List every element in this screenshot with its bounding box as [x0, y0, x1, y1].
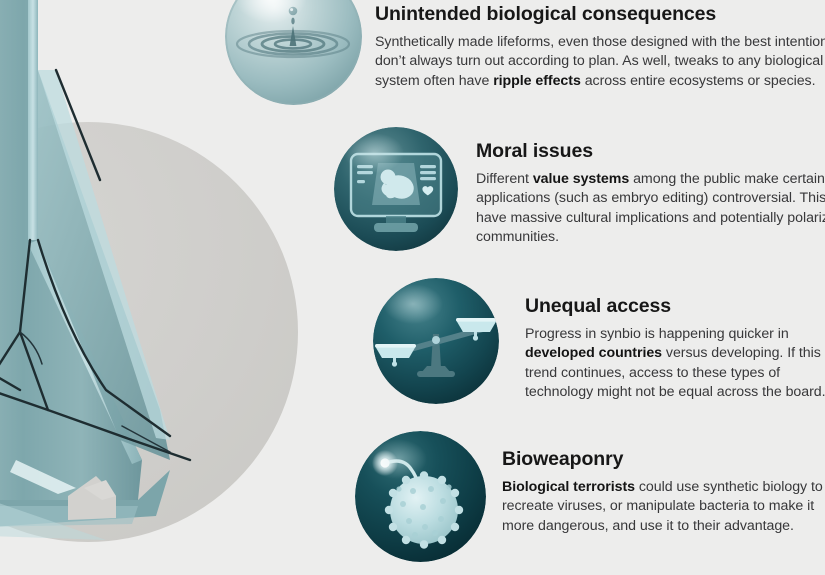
section-body: Progress in synbio is happening quicker … [525, 325, 825, 403]
section-moral-issues: Moral issues Different value systems amo… [476, 139, 825, 248]
section-unintended-biological-consequences: Unintended biological consequences Synth… [375, 2, 825, 91]
cracked-flask-illustration [0, 0, 270, 575]
section-title: Unintended biological consequences [375, 2, 825, 26]
infographic-canvas: Unintended biological consequences Synth… [0, 0, 825, 575]
icon-sphere-virus-bomb [355, 431, 486, 562]
section-bioweaponry: Bioweaponry Biological terrorists could … [502, 447, 825, 536]
section-title: Bioweaponry [502, 447, 825, 471]
section-unequal-access: Unequal access Progress in synbio is hap… [525, 294, 825, 403]
section-body: Synthetically made lifeforms, even those… [375, 33, 825, 91]
section-title: Unequal access [525, 294, 825, 318]
section-body: Biological terrorists could use syntheti… [502, 478, 825, 536]
section-body: Different value systems among the public… [476, 170, 825, 248]
icon-sphere-ultrasound-monitor [334, 127, 458, 251]
section-title: Moral issues [476, 139, 825, 163]
icon-sphere-unbalanced-scale [373, 278, 499, 404]
monitor-right-lines [420, 165, 436, 180]
